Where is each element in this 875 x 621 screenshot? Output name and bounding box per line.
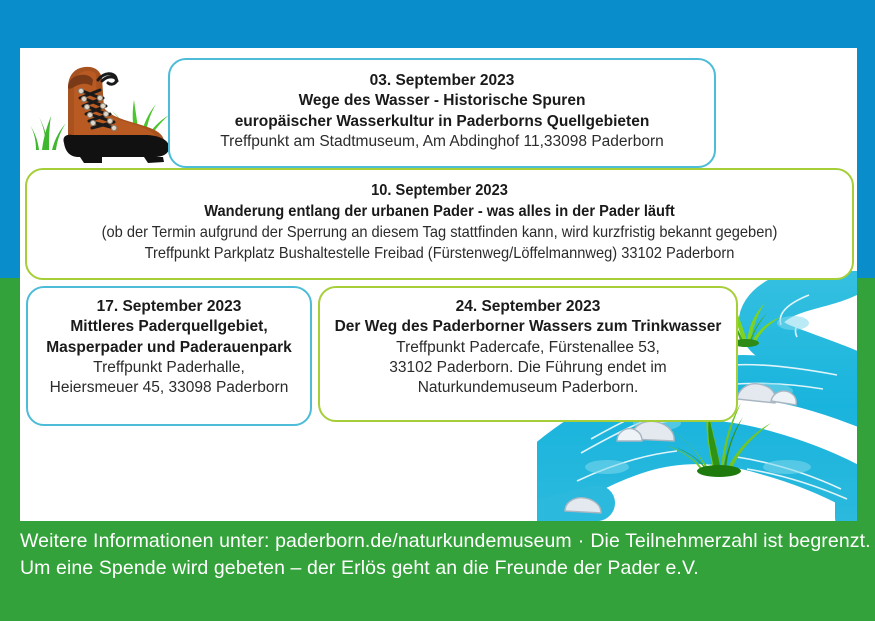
event-2-note: (ob der Termin aufgrund der Sperrung an … — [62, 223, 817, 244]
event-2-title-1: Wanderung entlang der urbanen Pader - wa… — [62, 202, 817, 223]
event-3-title-2: Masperpader und Paderauenpark — [28, 338, 310, 358]
event-box-2[interactable]: 10. September 2023 Wanderung entlang der… — [25, 168, 854, 280]
footer-line-1: Weitere Informationen unter: paderborn.d… — [20, 528, 865, 555]
event-3-meeting-2: Heiersmeuer 45, 33098 Paderborn — [28, 378, 310, 398]
footer-limit-note: Die Teilnehmerzahl ist begrenzt. — [590, 530, 870, 552]
content-card: 03. September 2023 Wege des Wasser - His… — [20, 48, 857, 521]
event-2-date: 10. September 2023 — [62, 181, 817, 202]
event-4-date: 24. September 2023 — [320, 297, 736, 317]
footer-info: Weitere Informationen unter: paderborn.d… — [20, 528, 865, 583]
poster-root: 03. September 2023 Wege des Wasser - His… — [0, 0, 875, 621]
event-1-meeting: Treffpunkt am Stadtmuseum, Am Abdinghof … — [170, 132, 714, 152]
event-box-3[interactable]: 17. September 2023 Mittleres Paderquellg… — [26, 286, 312, 426]
event-1-title-2: europäischer Wasserkultur in Paderborns … — [170, 112, 714, 132]
event-1-date: 03. September 2023 — [170, 71, 714, 91]
event-4-meeting-1: Treffpunkt Padercafe, Fürstenallee 53, — [320, 338, 736, 358]
footer-line-2: Um eine Spende wird gebeten – der Erlös … — [20, 555, 865, 582]
event-3-date: 17. September 2023 — [28, 297, 310, 317]
footer-info-url[interactable]: Weitere Informationen unter: paderborn.d… — [20, 530, 572, 552]
footer-separator: · — [572, 530, 591, 552]
event-3-meeting-1: Treffpunkt Paderhalle, — [28, 358, 310, 378]
event-4-meeting-2: 33102 Paderborn. Die Führung endet im — [320, 358, 736, 378]
event-2-meeting: Treffpunkt Parkplatz Bushaltestelle Frei… — [62, 244, 817, 265]
event-4-title-1: Der Weg des Paderborner Wassers zum Trin… — [320, 317, 736, 337]
event-box-4[interactable]: 24. September 2023 Der Weg des Paderborn… — [318, 286, 738, 422]
event-3-title-1: Mittleres Paderquellgebiet, — [28, 317, 310, 337]
event-1-title-1: Wege des Wasser - Historische Spuren — [170, 91, 714, 111]
event-4-meeting-3: Naturkundemuseum Paderborn. — [320, 378, 736, 398]
hiking-boot-icon — [28, 50, 178, 168]
event-box-1[interactable]: 03. September 2023 Wege des Wasser - His… — [168, 58, 716, 168]
